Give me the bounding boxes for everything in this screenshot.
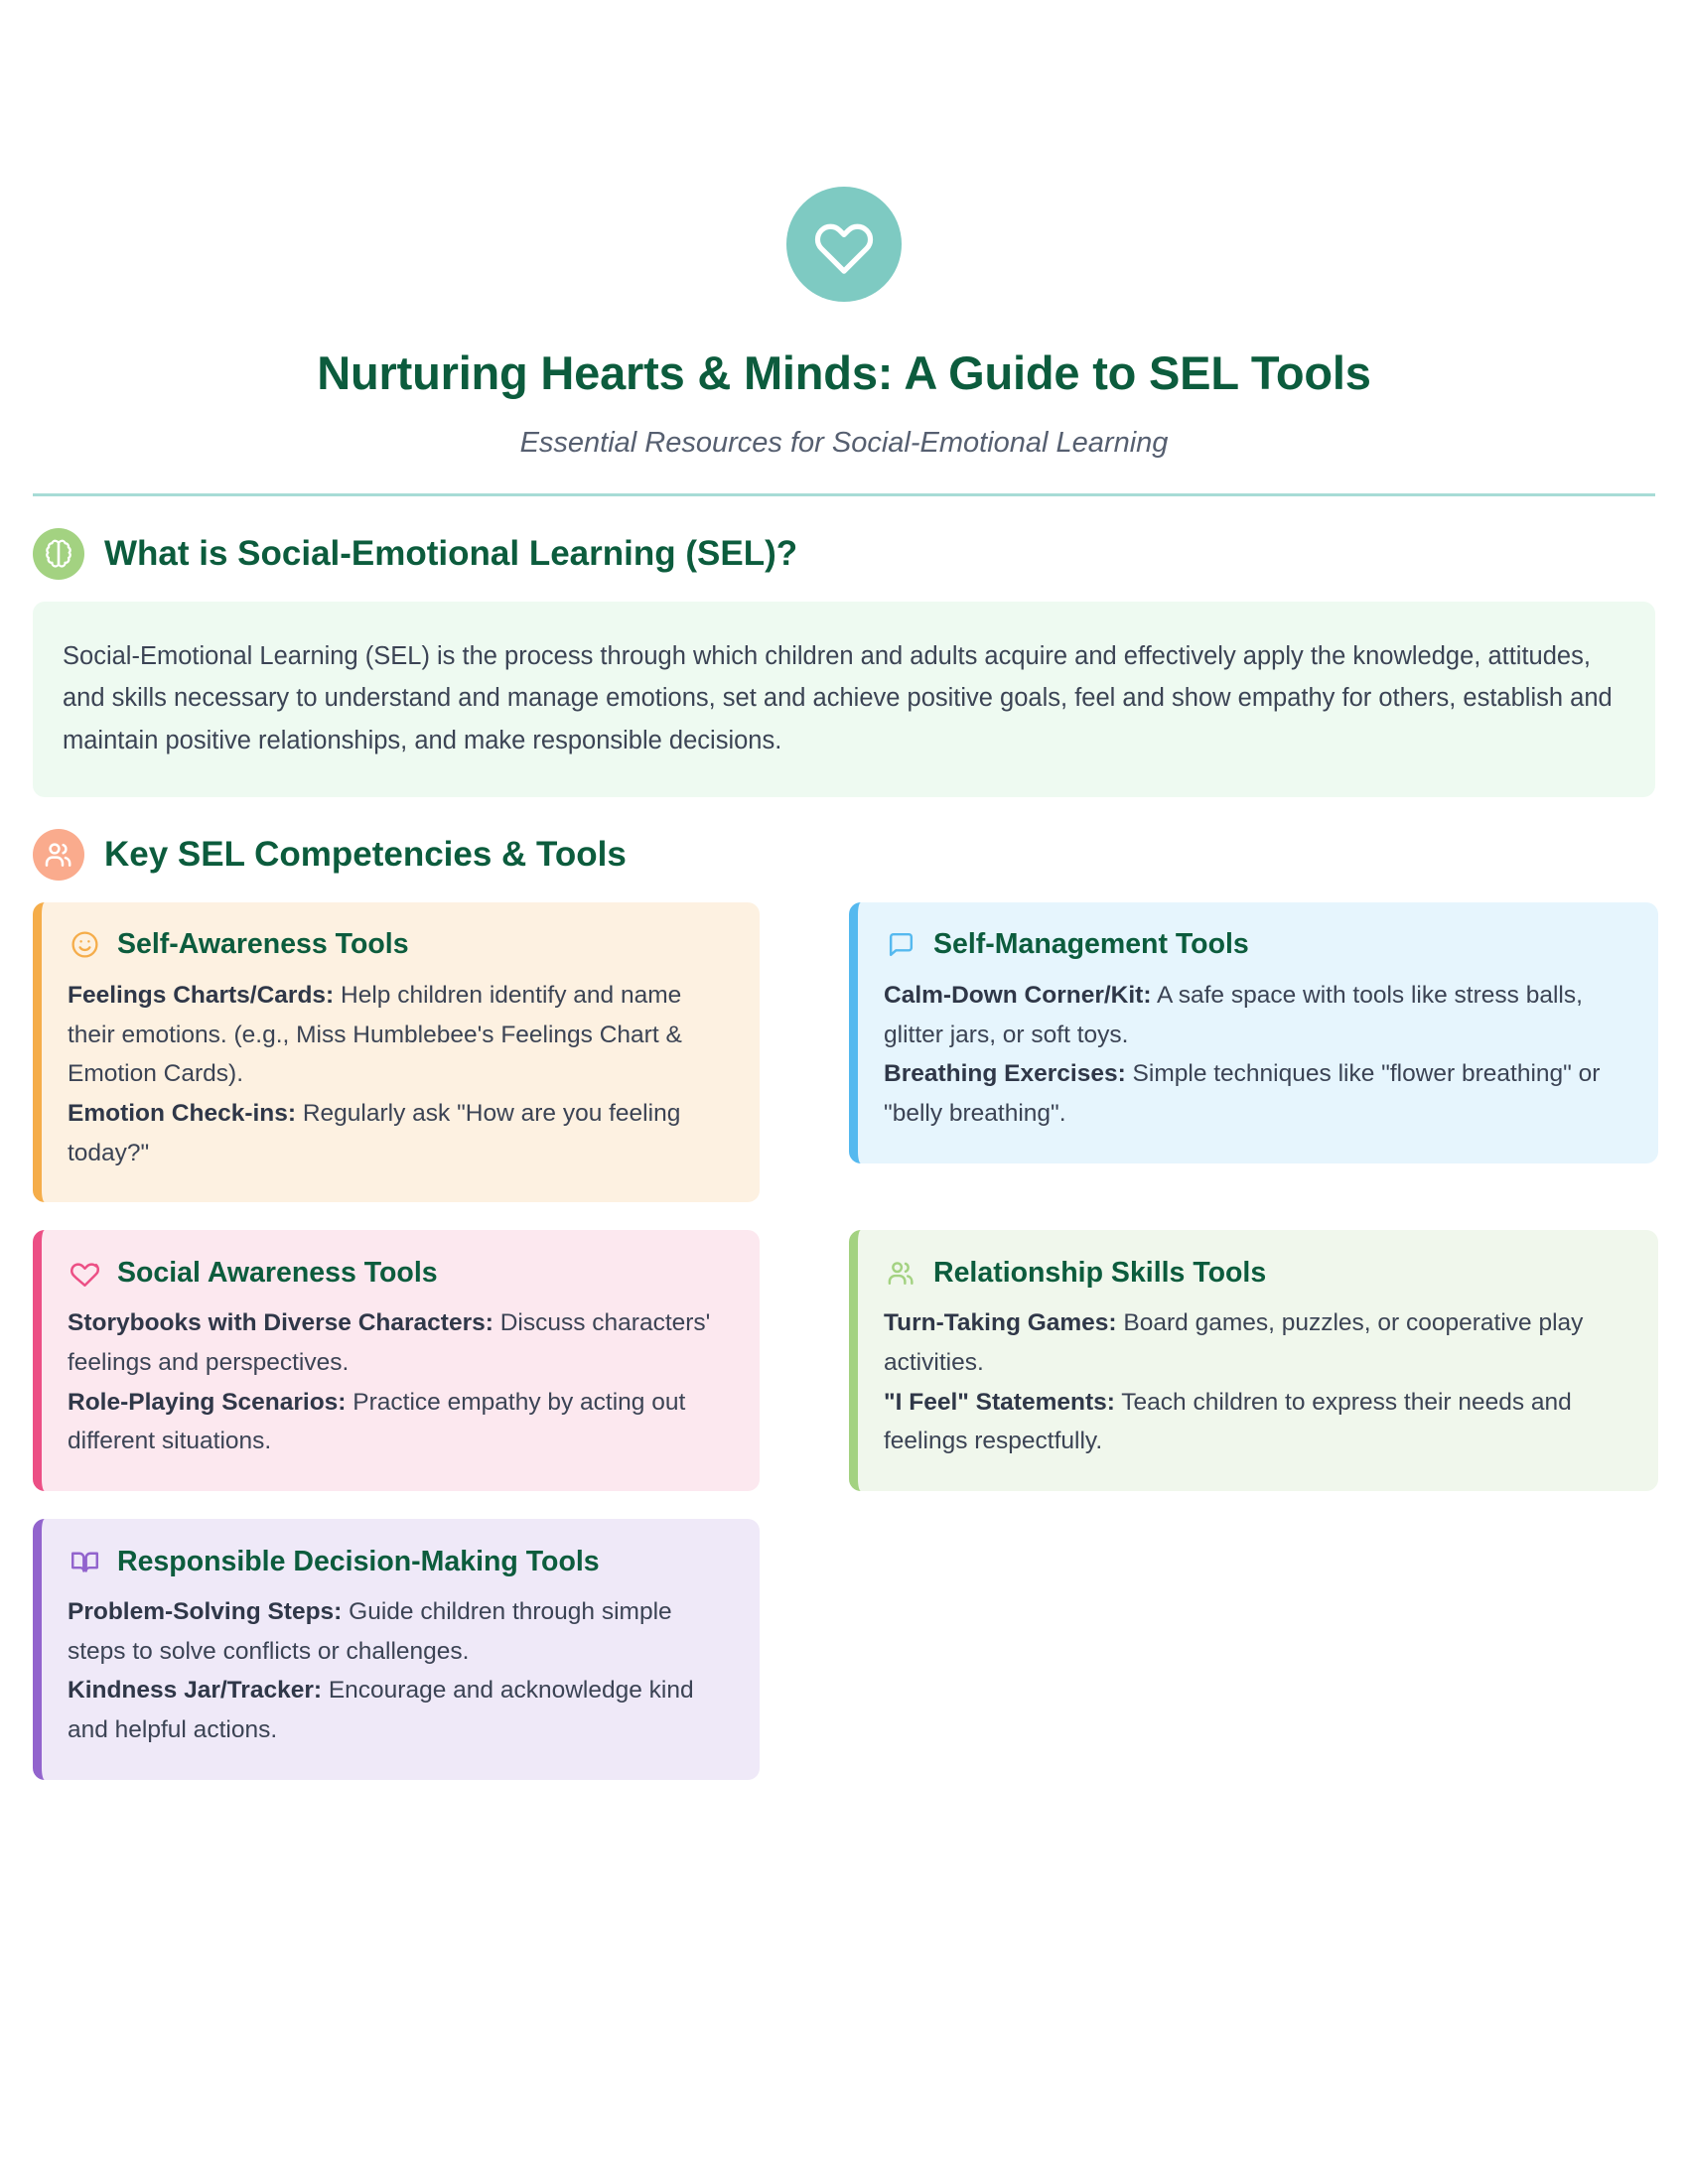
card-item-term: Feelings Charts/Cards: [68, 982, 334, 1009]
intro-panel: Social-Emotional Learning (SEL) is the p… [33, 602, 1655, 797]
card-self-management: Self-Management Tools Calm-Down Corner/K… [849, 902, 1658, 1163]
page-subtitle: Essential Resources for Social-Emotional… [33, 426, 1655, 461]
card-social-awareness: Social Awareness Tools Storybooks with D… [33, 1230, 760, 1491]
card-body: Storybooks with Diverse Characters: Disc… [68, 1303, 732, 1461]
intro-text: Social-Emotional Learning (SEL) is the p… [63, 635, 1625, 761]
logo-badge [786, 187, 902, 302]
card-item-term: Problem-Solving Steps: [68, 1598, 342, 1625]
card-self-awareness: Self-Awareness Tools Feelings Charts/Car… [33, 902, 760, 1202]
card-body: Feelings Charts/Cards: Help children ide… [68, 976, 732, 1172]
page-title: Nurturing Hearts & Minds: A Guide to SEL… [33, 346, 1655, 400]
card-item: Role-Playing Scenarios: Practice empathy… [68, 1389, 685, 1455]
card-item: Feelings Charts/Cards: Help children ide… [68, 982, 682, 1087]
section-heading-competencies: Key SEL Competencies & Tools [33, 829, 1655, 881]
card-item-term: Role-Playing Scenarios: [68, 1389, 346, 1416]
card-header: Responsible Decision-Making Tools [68, 1545, 732, 1578]
document-page: Nurturing Hearts & Minds: A Guide to SEL… [0, 0, 1688, 2184]
card-relationship-skills: Relationship Skills Tools Turn-Taking Ga… [849, 1230, 1658, 1491]
card-title: Self-Awareness Tools [117, 928, 409, 961]
card-title: Relationship Skills Tools [933, 1257, 1266, 1290]
card-item-term: Storybooks with Diverse Characters: [68, 1309, 493, 1336]
card-item: Kindness Jar/Tracker: Encourage and ackn… [68, 1677, 694, 1743]
card-item: Turn-Taking Games: Board games, puzzles,… [884, 1309, 1583, 1376]
card-body: Turn-Taking Games: Board games, puzzles,… [884, 1303, 1630, 1461]
open-book-icon [68, 1545, 101, 1578]
card-item: "I Feel" Statements: Teach children to e… [884, 1389, 1572, 1455]
card-item-term: Turn-Taking Games: [884, 1309, 1117, 1336]
card-title: Responsible Decision-Making Tools [117, 1546, 600, 1578]
document-header: Nurturing Hearts & Minds: A Guide to SEL… [33, 0, 1655, 496]
card-header: Self-Awareness Tools [68, 928, 732, 962]
card-header: Relationship Skills Tools [884, 1256, 1630, 1290]
card-responsible-decision-making: Responsible Decision-Making Tools Proble… [33, 1519, 760, 1780]
message-bubble-icon [884, 928, 917, 962]
card-item-term: Emotion Check-ins: [68, 1100, 296, 1127]
card-body: Calm-Down Corner/Kit: A safe space with … [884, 976, 1630, 1134]
card-item: Emotion Check-ins: Regularly ask "How ar… [68, 1100, 680, 1166]
heart-icon [813, 213, 875, 275]
section-title: Key SEL Competencies & Tools [104, 836, 627, 875]
brain-icon [33, 528, 84, 580]
card-body: Problem-Solving Steps: Guide children th… [68, 1592, 732, 1750]
card-item-term: "I Feel" Statements: [884, 1389, 1115, 1416]
section-heading-what-is-sel: What is Social-Emotional Learning (SEL)? [33, 528, 1655, 580]
card-header: Social Awareness Tools [68, 1256, 732, 1290]
smiley-face-icon [68, 928, 101, 962]
users-icon [884, 1256, 917, 1290]
card-item: Breathing Exercises: Simple techniques l… [884, 1060, 1600, 1127]
card-item: Calm-Down Corner/Kit: A safe space with … [884, 982, 1583, 1048]
section-title: What is Social-Emotional Learning (SEL)? [104, 535, 797, 574]
card-item: Problem-Solving Steps: Guide children th… [68, 1598, 672, 1665]
card-item-term: Calm-Down Corner/Kit: [884, 982, 1152, 1009]
card-title: Social Awareness Tools [117, 1257, 438, 1290]
card-item-term: Kindness Jar/Tracker: [68, 1677, 322, 1704]
competency-card-grid: Self-Awareness Tools Feelings Charts/Car… [33, 902, 1655, 1780]
header-divider [33, 493, 1655, 496]
users-icon [33, 829, 84, 881]
card-item: Storybooks with Diverse Characters: Disc… [68, 1309, 710, 1376]
card-title: Self-Management Tools [933, 928, 1249, 961]
card-header: Self-Management Tools [884, 928, 1630, 962]
card-item-term: Breathing Exercises: [884, 1060, 1126, 1087]
heart-outline-icon [68, 1256, 101, 1290]
